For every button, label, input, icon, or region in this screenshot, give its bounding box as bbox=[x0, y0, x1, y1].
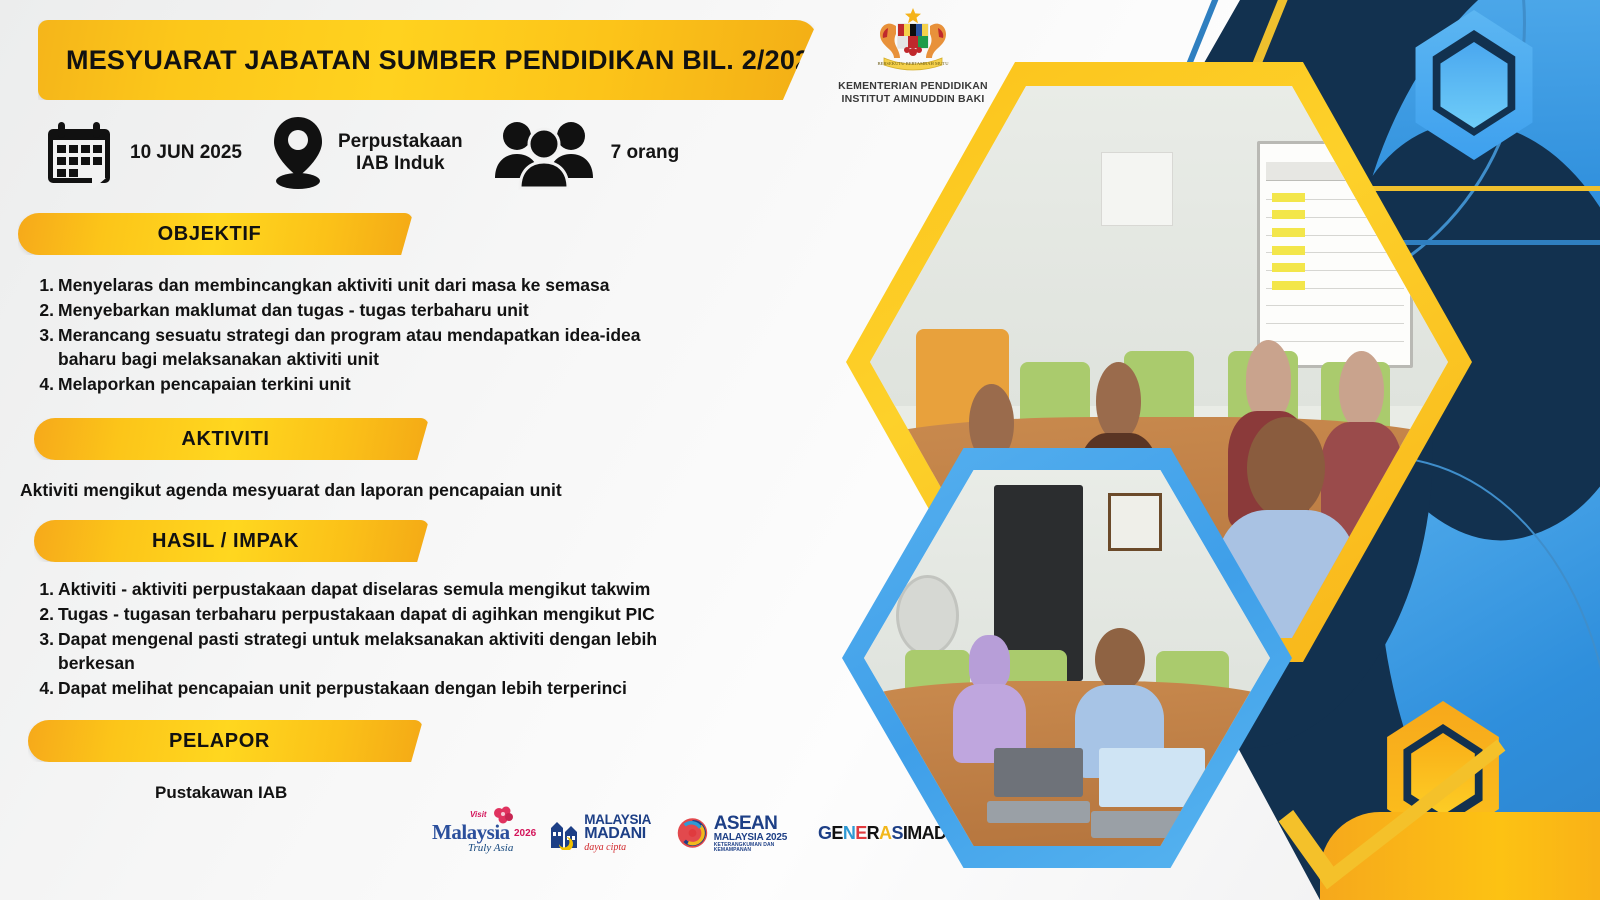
list-number: 2. bbox=[32, 299, 58, 323]
madani-line-2: MADANI bbox=[584, 826, 651, 842]
madani-tagline: daya cipta bbox=[584, 843, 651, 853]
list-number: 4. bbox=[32, 677, 58, 701]
attendance-count: 7 orang bbox=[611, 142, 680, 164]
list-item: 2. Tugas - tugasan terbaharu perpustakaa… bbox=[32, 603, 672, 627]
list-number: 1. bbox=[32, 578, 58, 602]
visit-malaysia-logo: Visit Malaysia 2026 Truly Asia bbox=[430, 804, 531, 862]
asean-line-2: MALAYSIA 2025 bbox=[714, 833, 800, 843]
list-item: 3. Dapat mengenal pasti strategi untuk m… bbox=[32, 628, 672, 676]
section-label-aktiviti: AKTIVITI bbox=[181, 428, 269, 451]
section-header-hasil-impak: HASIL / IMPAK bbox=[34, 520, 429, 562]
list-item: 4. Melaporkan pencapaian terkini unit bbox=[32, 373, 642, 397]
poster-canvas: MESYUARAT JABATAN SUMBER PENDIDIKAN BIL.… bbox=[0, 0, 1600, 900]
location-line-2: IAB Induk bbox=[338, 153, 463, 175]
list-number: 3. bbox=[32, 324, 58, 348]
page-title: MESYUARAT JABATAN SUMBER PENDIDIKAN BIL.… bbox=[66, 45, 826, 76]
list-number: 3. bbox=[32, 628, 58, 652]
people-group-icon bbox=[489, 116, 599, 190]
list-item: 1. Menyelaras dan membincangkan aktiviti… bbox=[32, 274, 642, 298]
asean-malaysia-2025-logo: ASEAN MALAYSIA 2025 KETERANGKUMAN DAN KE… bbox=[676, 803, 800, 863]
list-number: 1. bbox=[32, 274, 58, 298]
section-label-objektif: OBJEKTIF bbox=[158, 223, 262, 246]
madani-line-1: MALAYSIA bbox=[584, 813, 651, 827]
list-text: Dapat melihat pencapaian unit perpustaka… bbox=[58, 677, 672, 701]
section-header-aktiviti: AKTIVITI bbox=[34, 418, 429, 460]
list-text: Aktiviti - aktiviti perpustakaan dapat d… bbox=[58, 578, 672, 602]
location-pin-icon bbox=[268, 115, 328, 191]
list-item: 3. Merancang sesuatu strategi dan progra… bbox=[32, 324, 642, 372]
section-label-pelapor: PELAPOR bbox=[169, 730, 270, 753]
meeting-date: 10 JUN 2025 bbox=[130, 142, 242, 164]
visit-malaysia-visit: Visit bbox=[470, 810, 487, 819]
list-number: 4. bbox=[32, 373, 58, 397]
info-location: Perpustakaan IAB Induk bbox=[268, 115, 463, 191]
asean-spiral-icon bbox=[676, 814, 709, 852]
list-text: Menyebarkan maklumat dan tugas - tugas t… bbox=[58, 299, 642, 323]
list-text: Tugas - tugasan terbaharu perpustakaan d… bbox=[58, 603, 672, 627]
section-label-hasil-impak: HASIL / IMPAK bbox=[152, 530, 299, 553]
asean-line-1: ASEAN bbox=[714, 814, 800, 833]
location-line-1: Perpustakaan bbox=[338, 131, 463, 153]
list-text: Menyelaras dan membincangkan aktiviti un… bbox=[58, 274, 642, 298]
section-header-objektif: OBJEKTIF bbox=[18, 213, 413, 255]
visit-malaysia-year: 2026 bbox=[514, 828, 536, 839]
malaysia-madani-logo: MALAYSIA MADANI daya cipta bbox=[549, 803, 658, 863]
info-attendance: 7 orang bbox=[489, 116, 680, 190]
asean-line-3: KETERANGKUMAN DAN KEMAMPANAN bbox=[714, 843, 800, 853]
list-item: 4. Dapat melihat pencapaian unit perpust… bbox=[32, 677, 672, 701]
list-text: Merancang sesuatu strategi dan program a… bbox=[58, 324, 642, 372]
meeting-info-row: 10 JUN 2025 Perpustakaan IAB Induk bbox=[44, 108, 744, 198]
photo-hexagon-secondary bbox=[842, 448, 1292, 868]
list-item: 1. Aktiviti - aktiviti perpustakaan dapa… bbox=[32, 578, 672, 602]
aktiviti-text: Aktiviti mengikut agenda mesyuarat dan l… bbox=[20, 480, 562, 501]
hasil-impak-list: 1. Aktiviti - aktiviti perpustakaan dapa… bbox=[32, 578, 672, 702]
list-item: 2. Menyebarkan maklumat dan tugas - tuga… bbox=[32, 299, 642, 323]
calendar-icon bbox=[44, 118, 118, 188]
meeting-location: Perpustakaan IAB Induk bbox=[338, 131, 463, 176]
list-text: Melaporkan pencapaian terkini unit bbox=[58, 373, 642, 397]
header-banner: MESYUARAT JABATAN SUMBER PENDIDIKAN BIL.… bbox=[38, 20, 818, 100]
info-date: 10 JUN 2025 bbox=[44, 118, 242, 188]
pelapor-name: Pustakawan IAB bbox=[155, 783, 287, 803]
madani-crescent-building-icon bbox=[549, 816, 579, 850]
section-header-pelapor: PELAPOR bbox=[28, 720, 423, 762]
visit-malaysia-tagline: Truly Asia bbox=[468, 842, 513, 854]
list-text: Dapat mengenal pasti strategi untuk mela… bbox=[58, 628, 672, 676]
objektif-list: 1. Menyelaras dan membincangkan aktiviti… bbox=[32, 274, 642, 398]
list-number: 2. bbox=[32, 603, 58, 627]
